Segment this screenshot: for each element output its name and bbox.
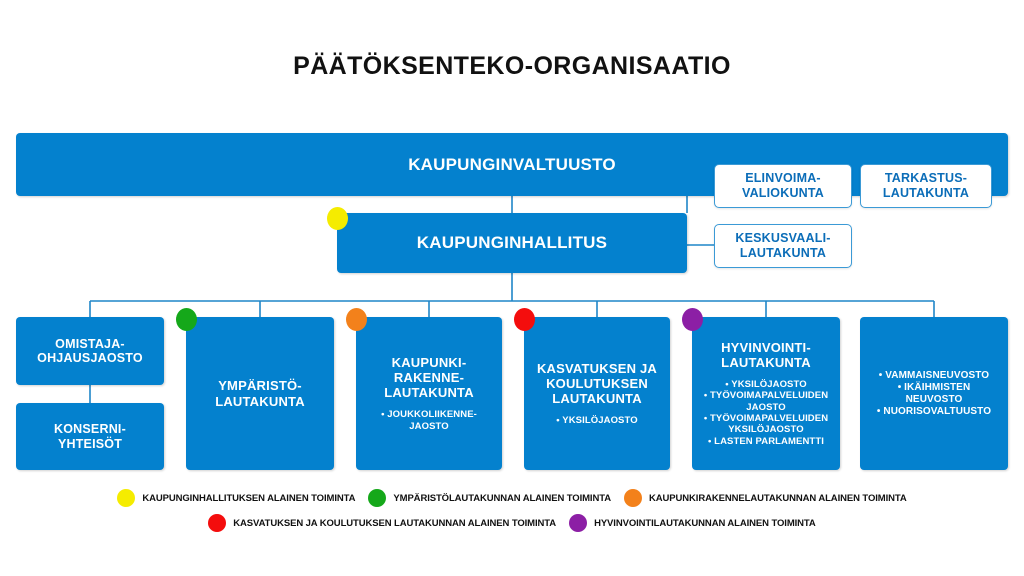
node-title: KAUPUNGINHALLITUS [417,233,607,253]
bullet-item: • IKÄIHMISTEN NEUVOSTO [877,382,991,406]
node-title: KASVATUKSEN JA KOULUTUKSEN LAUTAKUNTA [537,361,657,406]
legend-color-dot [117,489,135,507]
marker-dot-red [514,308,535,331]
node-bullets: • YKSILÖJAOSTO• TYÖVOIMAPALVELUIDEN JAOS… [704,379,828,447]
node-title: KONSERNI- YHTEISÖT [54,422,126,451]
marker-dot-green [176,308,197,331]
legend-item: KASVATUKSEN JA KOULUTUKSEN LAUTAKUNNAN A… [208,514,556,532]
legend-row-1: KAUPUNGINHALLITUKSEN ALAINEN TOIMINTAYMP… [0,489,1024,507]
legend-color-dot [624,489,642,507]
node-neuvostot[interactable]: • VAMMAISNEUVOSTO• IKÄIHMISTEN NEUVOSTO•… [860,317,1008,470]
node-bullets: • JOUKKOLIIKENNE- JAOSTO [381,409,477,432]
legend-item: KAUPUNGINHALLITUKSEN ALAINEN TOIMINTA [117,489,355,507]
legend-label: KASVATUKSEN JA KOULUTUKSEN LAUTAKUNNAN A… [233,518,556,529]
legend-color-dot [208,514,226,532]
bullet-item: • VAMMAISNEUVOSTO [877,370,991,382]
bullet-item: • YKSILÖJAOSTO [704,379,828,390]
bullet-item: • JOUKKOLIIKENNE- JAOSTO [381,409,477,432]
node-keskusvaali-lautakunta[interactable]: KESKUSVAALI- LAUTAKUNTA [714,224,852,268]
node-title: YMPÄRISTÖ- LAUTAKUNTA [215,378,305,408]
node-ymparistolautakunta[interactable]: YMPÄRISTÖ- LAUTAKUNTA [186,317,334,470]
legend-item: KAUPUNKIRAKENNELAUTAKUNNAN ALAINEN TOIMI… [624,489,907,507]
legend-label: KAUPUNGINHALLITUKSEN ALAINEN TOIMINTA [142,493,355,504]
node-kasvatuksen-ja-koulutuksen-lautakunta[interactable]: KASVATUKSEN JA KOULUTUKSEN LAUTAKUNTA • … [524,317,670,470]
node-title: KAUPUNGINVALTUUSTO [408,155,616,175]
marker-dot-orange [346,308,367,331]
legend-item: HYVINVOINTILAUTAKUNNAN ALAINEN TOIMINTA [569,514,816,532]
node-hyvinvointilautakunta[interactable]: HYVINVOINTI- LAUTAKUNTA • YKSILÖJAOSTO• … [692,317,840,470]
node-elinvoima-valiokunta[interactable]: ELINVOIMA- VALIOKUNTA [714,164,852,208]
legend-row-2: KASVATUKSEN JA KOULUTUKSEN LAUTAKUNNAN A… [0,514,1024,532]
legend-item: YMPÄRISTÖLAUTAKUNNAN ALAINEN TOIMINTA [368,489,611,507]
marker-dot-purple [682,308,703,331]
legend-label: KAUPUNKIRAKENNELAUTAKUNNAN ALAINEN TOIMI… [649,493,907,504]
legend-label: HYVINVOINTILAUTAKUNNAN ALAINEN TOIMINTA [594,518,816,529]
node-kaupunginhallitus[interactable]: KAUPUNGINHALLITUS [337,213,687,273]
legend-color-dot [569,514,587,532]
node-konserniyhteisot[interactable]: KONSERNI- YHTEISÖT [16,403,164,470]
node-tarkastus-lautakunta[interactable]: TARKASTUS- LAUTAKUNTA [860,164,992,208]
bullet-item: • LASTEN PARLAMENTTI [704,436,828,447]
node-bullets: • VAMMAISNEUVOSTO• IKÄIHMISTEN NEUVOSTO•… [877,370,991,418]
bullet-item: • YKSILÖJAOSTO [556,415,637,426]
legend-color-dot [368,489,386,507]
node-title: KAUPUNKI- RAKENNE- LAUTAKUNTA [384,355,474,400]
page-title: PÄÄTÖKSENTEKO-ORGANISAATIO [0,52,1024,81]
bullet-item: • TYÖVOIMAPALVELUIDEN JAOSTO [704,390,828,413]
node-title: HYVINVOINTI- LAUTAKUNTA [721,340,811,370]
bullet-item: • NUORISOVALTUUSTO [877,406,991,418]
node-title: OMISTAJA- OHJAUSJAOSTO [37,337,143,366]
marker-dot-yellow [327,207,348,230]
node-omistajaohjausjaosto[interactable]: OMISTAJA- OHJAUSJAOSTO [16,317,164,385]
org-chart: PÄÄTÖKSENTEKO-ORGANISAATIO KAUPUNGINVAL [0,0,1024,576]
legend-label: YMPÄRISTÖLAUTAKUNNAN ALAINEN TOIMINTA [393,493,611,504]
bullet-item: • TYÖVOIMAPALVELUIDEN YKSILÖJAOSTO [704,413,828,436]
node-kaupunkirakennelautakunta[interactable]: KAUPUNKI- RAKENNE- LAUTAKUNTA • JOUKKOLI… [356,317,502,470]
node-bullets: • YKSILÖJAOSTO [556,415,637,426]
